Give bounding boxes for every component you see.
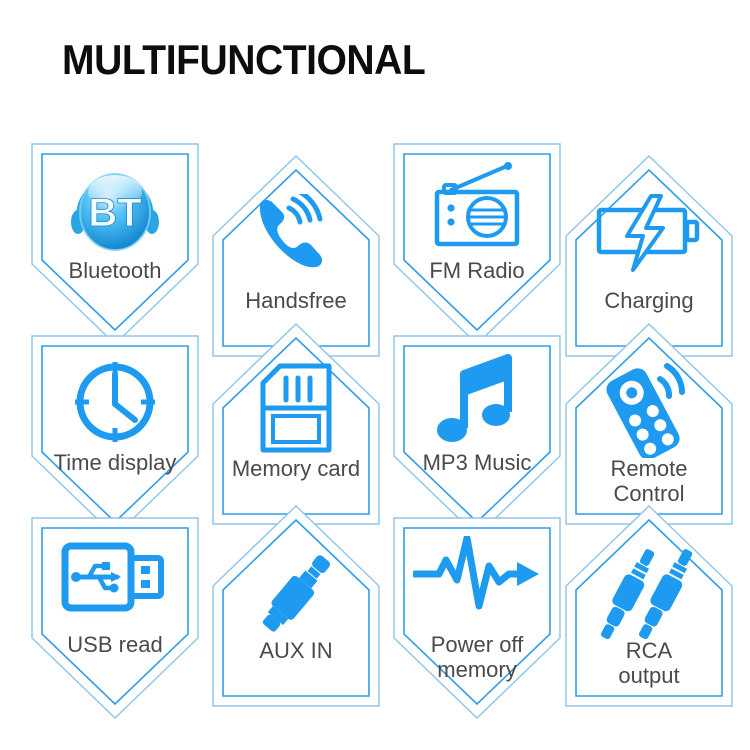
feature-cell-fm-radio[interactable]: FM Radio — [384, 138, 570, 350]
feature-cell-power-off-memory[interactable]: Power off memory — [384, 512, 570, 724]
rca-connectors-icon — [556, 544, 742, 653]
feature-cell-remote-control[interactable]: Remote Control — [556, 318, 742, 530]
feature-cell-bluetooth[interactable]: BT Bluetooth — [22, 138, 208, 350]
clock-icon — [22, 354, 208, 455]
music-note-icon — [384, 354, 570, 455]
feature-cell-aux-in[interactable]: AUX IN — [203, 500, 389, 712]
feature-cell-mp3-music[interactable]: MP3 Music — [384, 330, 570, 542]
feature-label: Power off memory — [384, 632, 570, 682]
feature-label: Bluetooth — [22, 258, 208, 283]
feature-label: Charging — [556, 288, 742, 313]
feature-cell-memory-card[interactable]: Memory card — [203, 318, 389, 530]
feature-label: Remote Control — [556, 456, 742, 506]
audio-jack-icon — [203, 544, 389, 649]
feature-label: USB read — [22, 632, 208, 657]
feature-label: Handsfree — [203, 288, 389, 313]
pulse-arrow-icon — [384, 536, 570, 615]
feature-cell-usb-read[interactable]: USB read — [22, 512, 208, 724]
bluetooth-bt-badge-icon: BT — [22, 162, 208, 259]
feature-label: RCA output — [556, 638, 742, 688]
remote-control-icon — [556, 362, 742, 463]
sd-card-icon — [203, 362, 389, 461]
phone-call-icon — [203, 194, 389, 281]
bluetooth-badge-text: BT — [88, 191, 141, 235]
feature-label: MP3 Music — [384, 450, 570, 475]
feature-cell-time-display[interactable]: Time display — [22, 330, 208, 542]
feature-cell-rca-output[interactable]: RCA output — [556, 500, 742, 712]
usb-drive-icon — [22, 536, 208, 623]
radio-icon — [384, 162, 570, 257]
battery-charging-icon — [556, 194, 742, 279]
feature-label: AUX IN — [203, 638, 389, 663]
feature-label: Time display — [22, 450, 208, 475]
feature-label: FM Radio — [384, 258, 570, 283]
feature-grid: BT Bluetooth Handsfree — [0, 0, 750, 750]
feature-label: Memory card — [203, 456, 389, 481]
